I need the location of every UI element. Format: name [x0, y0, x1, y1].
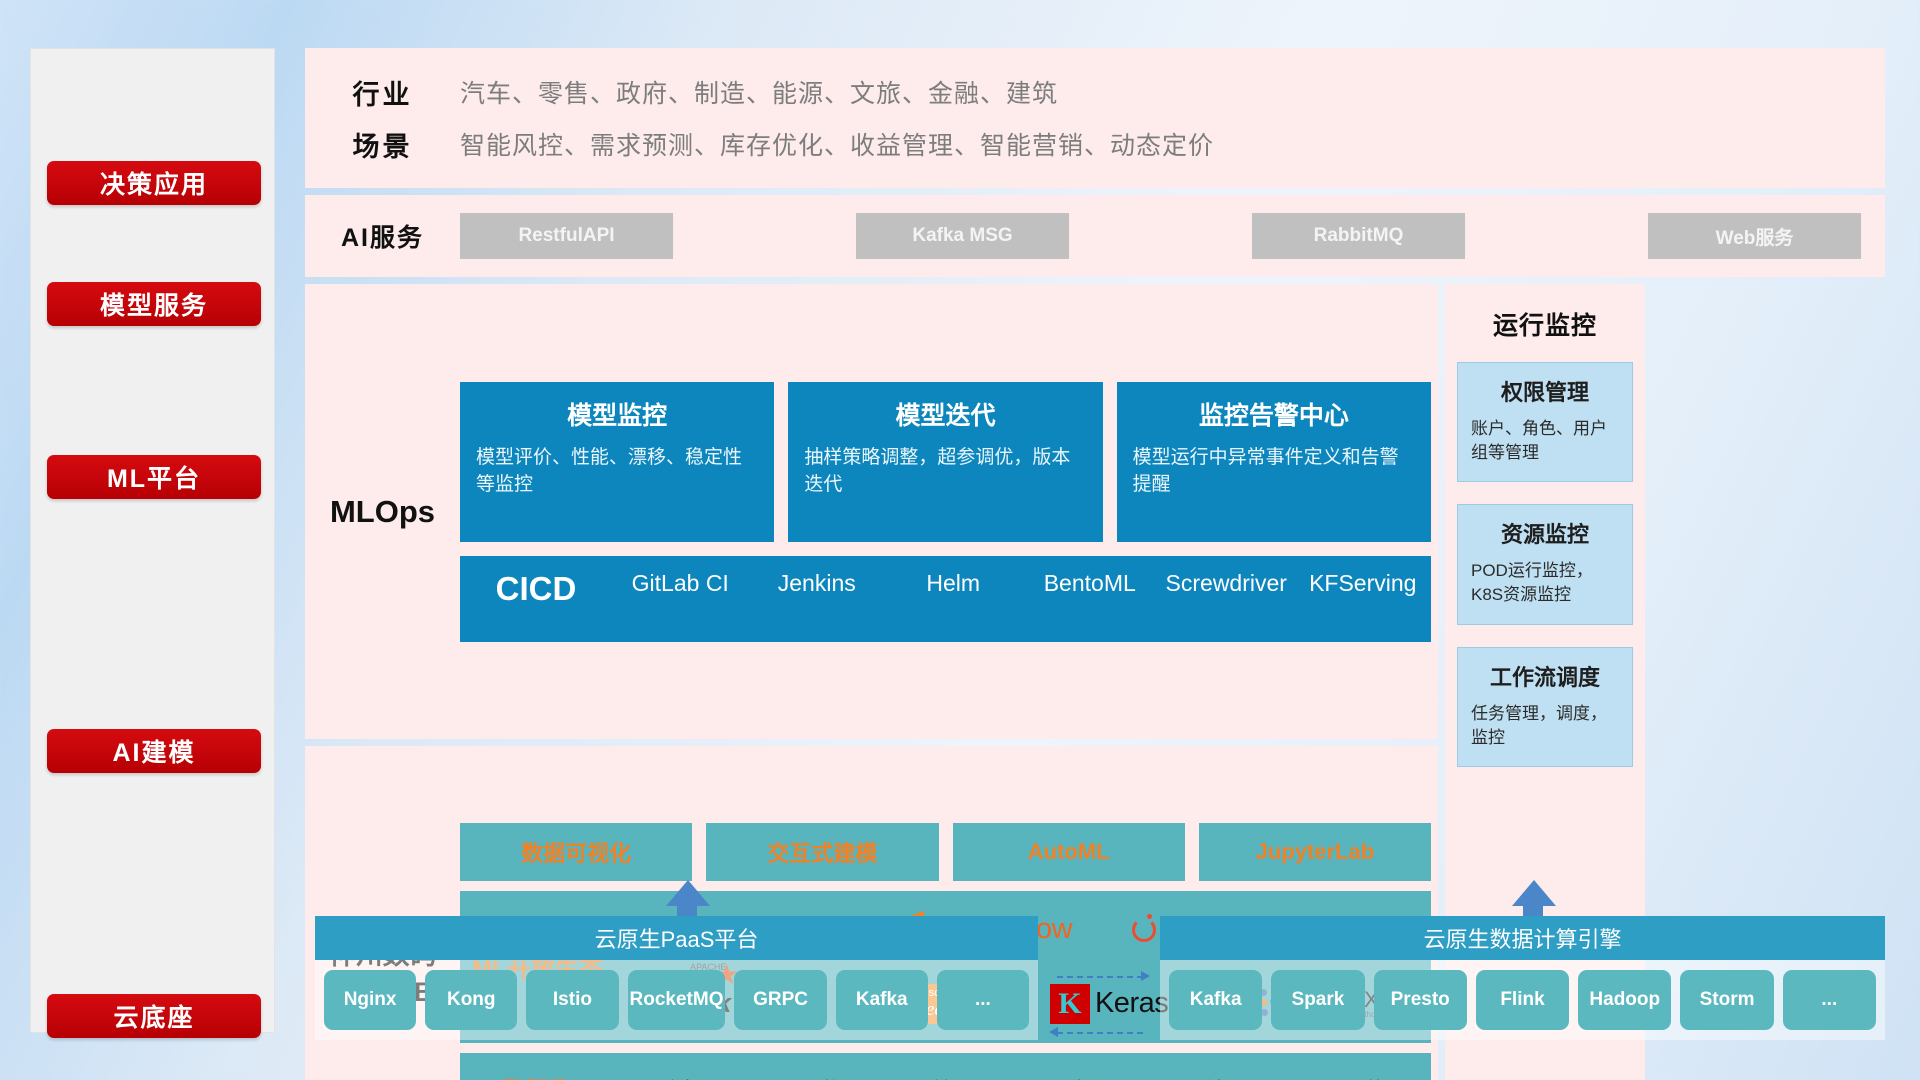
mlops-card-model-iteration[interactable]: 模型迭代 抽样策略调整，超参调优，版本迭代 [788, 382, 1102, 542]
rail-item-model-service[interactable]: 模型服务 [47, 282, 261, 326]
monitor-card-workflow[interactable]: 工作流调度 任务管理，调度，监控 [1457, 647, 1633, 767]
rail-label: ML平台 [107, 459, 201, 495]
card-desc: 抽样策略调整，超参调优，版本迭代 [804, 444, 1086, 499]
tech-rocketmq[interactable]: RocketMQ [628, 970, 726, 1030]
dataset-item-load[interactable]: 加载 [1295, 1072, 1431, 1080]
tech-more-data[interactable]: ... [1783, 970, 1876, 1030]
dataset-item-process[interactable]: 处理 [1159, 1072, 1295, 1080]
tech-kong[interactable]: Kong [425, 970, 517, 1030]
card-desc: 账户、角色、用户组等管理 [1471, 417, 1619, 465]
card-title: 模型迭代 [804, 396, 1086, 432]
ai-services-band: AI服务 RestfulAPI Kafka MSG RabbitMQ Web服务 [305, 195, 1885, 277]
dataset-item-manage[interactable]: 管理 [887, 1072, 1023, 1080]
card-title: 资源监控 [1471, 517, 1619, 549]
link-arrow-right-head-icon [1141, 971, 1150, 981]
card-title: 监控告警中心 [1133, 396, 1415, 432]
service-chip-rabbitmq[interactable]: RabbitMQ [1252, 213, 1465, 259]
scenario-label: 场景 [305, 125, 460, 164]
rail-label: 云底座 [113, 998, 194, 1034]
link-arrow-left-head-icon [1049, 1027, 1058, 1037]
scenario-row: 场景 智能风控、需求预测、库存优化、收益管理、智能营销、动态定价 [305, 118, 1885, 170]
lab-tool-interactive-modeling[interactable]: 交互式建模 [706, 823, 938, 881]
tech-istio[interactable]: Istio [526, 970, 618, 1030]
tech-flink[interactable]: Flink [1476, 970, 1569, 1030]
service-chip-web-service[interactable]: Web服务 [1648, 213, 1861, 259]
applications-band: 行业 汽车、零售、政府、制造、能源、文旅、金融、建筑 场景 智能风控、需求预测、… [305, 48, 1885, 188]
tech-more-paas[interactable]: ... [937, 970, 1029, 1030]
rail-item-ai-modeling[interactable]: AI建模 [47, 729, 261, 773]
tech-storm[interactable]: Storm [1680, 970, 1773, 1030]
cicd-item-kfserving[interactable]: KFServing [1295, 570, 1432, 596]
service-label: Web服务 [1716, 223, 1794, 250]
card-title: 权限管理 [1471, 375, 1619, 407]
tech-presto[interactable]: Presto [1374, 970, 1467, 1030]
rail-item-decision-apps[interactable]: 决策应用 [47, 161, 261, 205]
paas-title: 云原生PaaS平台 [315, 916, 1038, 960]
mlops-band: MLOps 模型监控 模型评价、性能、漂移、稳定性等监控 模型迭代 抽样策略调整… [305, 284, 1438, 739]
service-label: RestfulAPI [518, 225, 614, 247]
card-title: 模型监控 [476, 396, 758, 432]
rail-label: 模型服务 [100, 286, 208, 322]
industry-values: 汽车、零售、政府、制造、能源、文旅、金融、建筑 [460, 74, 1058, 110]
tech-kafka-data[interactable]: Kafka [1169, 970, 1262, 1030]
dataset-label: 数据集 [460, 1071, 615, 1080]
cicd-title: CICD [460, 570, 612, 608]
service-label: Kafka MSG [912, 225, 1012, 247]
rail-item-ml-platform[interactable]: ML平台 [47, 455, 261, 499]
rail-label: AI建模 [112, 733, 195, 769]
card-desc: 任务管理，调度，监控 [1471, 702, 1619, 750]
card-desc: POD运行监控，K8S资源监控 [1471, 559, 1619, 607]
mlops-card-alert-center[interactable]: 监控告警中心 模型运行中异常事件定义和告警提醒 [1117, 382, 1431, 542]
link-arrow-right [1057, 976, 1143, 978]
tech-grpc[interactable]: GRPC [734, 970, 826, 1030]
lab-tool-data-visualization[interactable]: 数据可视化 [460, 823, 692, 881]
dataset-item-define[interactable]: 定义 [1023, 1072, 1159, 1080]
cicd-item-gitlab-ci[interactable]: GitLab CI [612, 570, 749, 596]
tech-spark[interactable]: Spark [1271, 970, 1364, 1030]
service-chip-restfulapi[interactable]: RestfulAPI [460, 213, 673, 259]
data-engine-stack: 云原生数据计算引擎 Kafka Spark Presto Flink Hadoo… [1160, 916, 1885, 1040]
card-desc: 模型评价、性能、漂移、稳定性等监控 [476, 444, 758, 499]
scenario-values: 智能风控、需求预测、库存优化、收益管理、智能营销、动态定价 [460, 126, 1214, 162]
cicd-item-bentoml[interactable]: BentoML [1022, 570, 1159, 596]
mlops-label: MLOps [305, 494, 460, 530]
cloud-foundation-section: 云原生PaaS平台 Nginx Kong Istio RocketMQ GRPC… [305, 880, 1885, 1070]
runtime-monitoring-title: 运行监控 [1457, 306, 1633, 342]
tech-kafka[interactable]: Kafka [836, 970, 928, 1030]
tech-nginx[interactable]: Nginx [324, 970, 416, 1030]
card-title: 工作流调度 [1471, 660, 1619, 692]
card-desc: 模型运行中异常事件定义和告警提醒 [1133, 444, 1415, 499]
rail-label: 决策应用 [100, 165, 208, 201]
lab-tool-jupyterlab[interactable]: JupyterLab [1199, 823, 1431, 881]
rail-item-cloud-foundation[interactable]: 云底座 [47, 994, 261, 1038]
cicd-item-screwdriver[interactable]: Screwdriver [1158, 570, 1295, 596]
monitor-card-permission[interactable]: 权限管理 账户、角色、用户组等管理 [1457, 362, 1633, 482]
dataset-item-quality[interactable]: 质量监测 [751, 1072, 887, 1080]
mlops-card-model-monitoring[interactable]: 模型监控 模型评价、性能、漂移、稳定性等监控 [460, 382, 774, 542]
industry-row: 行业 汽车、零售、政府、制造、能源、文旅、金融、建筑 [305, 66, 1885, 118]
data-engine-title: 云原生数据计算引擎 [1160, 916, 1885, 960]
layer-rail: 决策应用 模型服务 ML平台 AI建模 云底座 [30, 48, 275, 1033]
cicd-item-helm[interactable]: Helm [885, 570, 1022, 596]
service-chip-kafka-msg[interactable]: Kafka MSG [856, 213, 1069, 259]
lab-tool-automl[interactable]: AutoML [953, 823, 1185, 881]
cicd-bar: CICD GitLab CI Jenkins Helm BentoML Scre… [460, 556, 1431, 642]
cicd-item-jenkins[interactable]: Jenkins [749, 570, 886, 596]
link-arrow-left [1057, 1032, 1143, 1034]
tech-hadoop[interactable]: Hadoop [1578, 970, 1671, 1030]
paas-stack: 云原生PaaS平台 Nginx Kong Istio RocketMQ GRPC… [315, 916, 1038, 1040]
industry-label: 行业 [305, 73, 460, 112]
dataset-item-connect[interactable]: 连接 [615, 1072, 751, 1080]
ai-services-label: AI服务 [305, 218, 460, 254]
monitor-card-resource[interactable]: 资源监控 POD运行监控，K8S资源监控 [1457, 504, 1633, 624]
service-label: RabbitMQ [1314, 225, 1404, 247]
